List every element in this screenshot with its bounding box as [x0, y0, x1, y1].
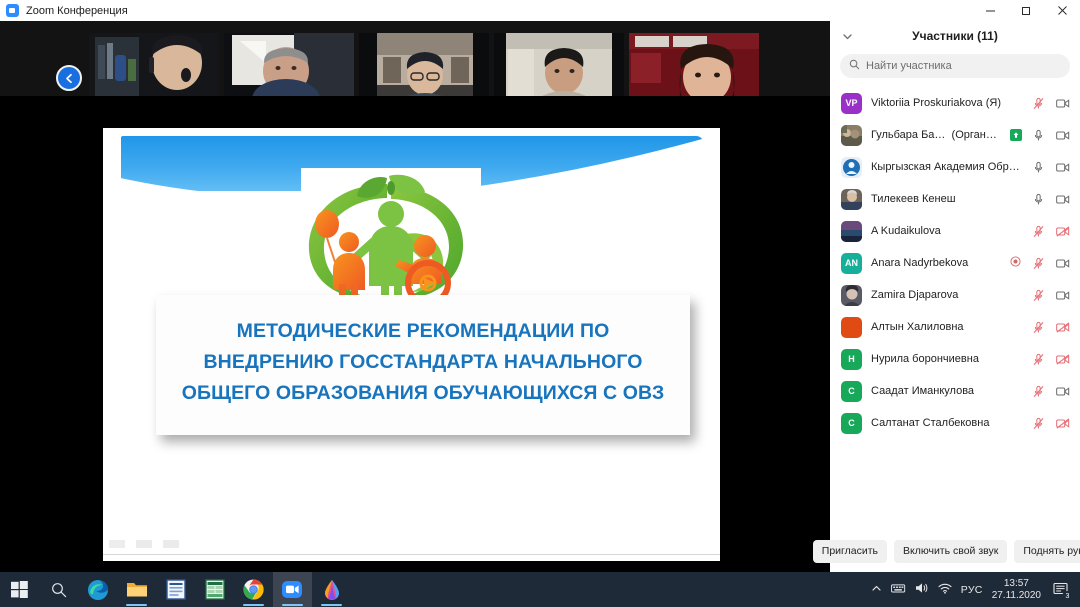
participants-search-row: Найти участника — [830, 50, 1080, 85]
avatar: Н — [841, 349, 862, 370]
slide-footer-marks — [109, 540, 179, 548]
participant-row[interactable]: Кыргызская Академия Образов… — [830, 151, 1080, 183]
mic-muted-icon[interactable] — [1031, 353, 1046, 366]
participants-title: Участники (11) — [830, 29, 1080, 43]
slide-title-line: ВНЕДРЕНИЮ ГОССТАНДАРТА НАЧАЛЬНОГО — [156, 347, 690, 378]
video-filmstrip: Гульбара Балие… — [0, 21, 830, 96]
avatar — [841, 157, 862, 178]
screen: Zoom Конференция — [0, 0, 1080, 607]
zoom-icon — [6, 4, 19, 17]
participant-name: Viktoriia Proskuriakova (Я) — [871, 97, 1022, 109]
video-on-icon[interactable] — [1055, 97, 1070, 110]
mic-on-icon[interactable] — [1031, 193, 1046, 206]
close-icon[interactable] — [1044, 0, 1080, 21]
paint-3d-icon[interactable] — [312, 572, 351, 607]
video-off-icon[interactable] — [1055, 321, 1070, 334]
video-on-icon[interactable] — [1055, 129, 1070, 142]
clock-time: 13:57 — [992, 578, 1041, 590]
avatar — [841, 221, 862, 242]
show-hidden-icons[interactable] — [871, 583, 882, 597]
zoom-icon[interactable] — [273, 572, 312, 607]
mic-muted-icon[interactable] — [1031, 225, 1046, 238]
search-input[interactable]: Найти участника — [840, 54, 1070, 78]
excel-icon[interactable] — [195, 572, 234, 607]
slide-title-line: МЕТОДИЧЕСКИЕ РЕКОМЕНДАЦИИ ПО — [156, 316, 690, 347]
avatar: VP — [841, 93, 862, 114]
minimize-icon[interactable] — [972, 0, 1008, 21]
avatar — [841, 125, 862, 146]
unmute-button[interactable]: Включить свой звук — [894, 540, 1007, 563]
video-on-icon[interactable] — [1055, 289, 1070, 302]
video-off-icon[interactable] — [1055, 353, 1070, 366]
windows-start-icon[interactable] — [0, 572, 39, 607]
participant-row[interactable]: Тилекеев Кенеш — [830, 183, 1080, 215]
participant-row[interactable]: С Салтанат Сталбековна — [830, 407, 1080, 439]
file-explorer-icon[interactable] — [117, 572, 156, 607]
participant-row[interactable]: VP Viktoriia Proskuriakova (Я) — [830, 87, 1080, 119]
slide-title-line: ОБЩЕГО ОБРАЗОВАНИЯ ОБУЧАЮЩИХСЯ С ОВЗ — [156, 378, 690, 409]
participants-panel-footer: Пригласить Включить свой звук Поднять ру… — [830, 530, 1080, 572]
participant-name: Zamira Djaparova — [871, 289, 1022, 301]
windows-taskbar: РУС 13:57 27.11.2020 3 — [0, 572, 1080, 607]
invite-button[interactable]: Пригласить — [813, 540, 887, 563]
video-off-icon[interactable] — [1055, 225, 1070, 238]
mic-muted-icon[interactable] — [1031, 385, 1046, 398]
keyboard-icon[interactable] — [891, 583, 906, 597]
mic-muted-icon[interactable] — [1031, 417, 1046, 430]
participant-row[interactable]: A Kudaikulova — [830, 215, 1080, 247]
system-tray: РУС 13:57 27.11.2020 3 — [871, 578, 1080, 602]
notifications-icon[interactable]: 3 — [1050, 579, 1072, 601]
slide-footer-rule — [103, 554, 720, 555]
participant-row[interactable]: Алтын Халиловна — [830, 311, 1080, 343]
mic-muted-icon[interactable] — [1031, 289, 1046, 302]
edge-browser-icon[interactable] — [78, 572, 117, 607]
chrome-browser-icon[interactable] — [234, 572, 273, 607]
mic-on-icon[interactable] — [1031, 161, 1046, 174]
avatar-initials: С — [848, 418, 855, 428]
slide-title-card: МЕТОДИЧЕСКИЕ РЕКОМЕНДАЦИИ ПО ВНЕДРЕНИЮ Г… — [156, 295, 690, 435]
window-title: Zoom Конференция — [26, 5, 128, 17]
participants-panel-header: Участники (11) — [830, 21, 1080, 50]
notification-count-badge: 3 — [1062, 591, 1073, 602]
avatar: AN — [841, 253, 862, 274]
avatar — [841, 317, 862, 338]
avatar-initials: VP — [845, 98, 857, 108]
video-on-icon[interactable] — [1055, 385, 1070, 398]
video-on-icon[interactable] — [1055, 161, 1070, 174]
window-title-bar: Zoom Конференция — [0, 0, 1080, 21]
participant-name: Гульбара Ба… (Организатор) — [871, 129, 1001, 141]
video-off-icon[interactable] — [1055, 417, 1070, 430]
raise-hand-button[interactable]: Поднять руку — [1014, 540, 1080, 563]
participant-name: A Kudaikulova — [871, 225, 1022, 237]
participant-row[interactable]: Zamira Djaparova — [830, 279, 1080, 311]
office-word-icon[interactable] — [156, 572, 195, 607]
participant-name: Саадат Иманкулова — [871, 385, 1022, 397]
avatar — [841, 285, 862, 306]
window-controls — [972, 0, 1080, 21]
participant-row[interactable]: Н Нурила борончиевна — [830, 343, 1080, 375]
participant-row[interactable]: С Саадат Иманкулова — [830, 375, 1080, 407]
chevron-left-icon[interactable] — [56, 65, 82, 91]
participant-name: Тилекеев Кенеш — [871, 193, 1022, 205]
participant-row[interactable]: Гульбара Ба… (Организатор) — [830, 119, 1080, 151]
chevron-down-icon[interactable] — [842, 29, 853, 47]
mic-muted-icon[interactable] — [1031, 97, 1046, 110]
video-on-icon[interactable] — [1055, 193, 1070, 206]
mic-muted-icon[interactable] — [1031, 257, 1046, 270]
participant-name: Кыргызская Академия Образов… — [871, 161, 1022, 173]
participant-name: Anara Nadyrbekova — [871, 257, 1001, 269]
participant-name: Нурила борончиевна — [871, 353, 1022, 365]
search-placeholder: Найти участника — [866, 60, 952, 72]
video-on-icon[interactable] — [1055, 257, 1070, 270]
avatar: С — [841, 381, 862, 402]
volume-icon[interactable] — [915, 582, 929, 597]
avatar: С — [841, 413, 862, 434]
shared-screen-stage: МЕТОДИЧЕСКИЕ РЕКОМЕНДАЦИИ ПО ВНЕДРЕНИЮ Г… — [0, 96, 830, 572]
participants-list[interactable]: VP Viktoriia Proskuriakova (Я) Гульб — [830, 85, 1080, 530]
inclusive-education-logo — [291, 166, 491, 311]
language-indicator[interactable]: РУС — [961, 584, 983, 596]
avatar-initials: С — [848, 386, 855, 396]
mic-on-icon[interactable] — [1031, 129, 1046, 142]
participant-name: Салтанат Сталбековна — [871, 417, 1022, 429]
zoom-meeting-window: Гульбара Балие… — [0, 21, 1080, 572]
clock[interactable]: 13:57 27.11.2020 — [992, 578, 1041, 602]
participants-panel: Участники (11) Найти участника VP Viktor… — [830, 21, 1080, 572]
avatar-initials: AN — [845, 258, 858, 268]
mic-muted-icon[interactable] — [1031, 321, 1046, 334]
avatar-initials: Н — [848, 354, 855, 364]
wifi-icon[interactable] — [938, 583, 952, 597]
host-badge — [1010, 129, 1022, 141]
recording-badge-icon — [1010, 254, 1021, 272]
participant-row[interactable]: AN Anara Nadyrbekova — [830, 247, 1080, 279]
avatar — [841, 189, 862, 210]
search-icon[interactable] — [39, 572, 78, 607]
maximize-icon[interactable] — [1008, 0, 1044, 21]
participant-name: Алтын Халиловна — [871, 321, 1022, 333]
clock-date: 27.11.2020 — [992, 590, 1041, 602]
presentation-slide[interactable]: МЕТОДИЧЕСКИЕ РЕКОМЕНДАЦИИ ПО ВНЕДРЕНИЮ Г… — [103, 128, 720, 561]
search-icon — [849, 57, 860, 75]
